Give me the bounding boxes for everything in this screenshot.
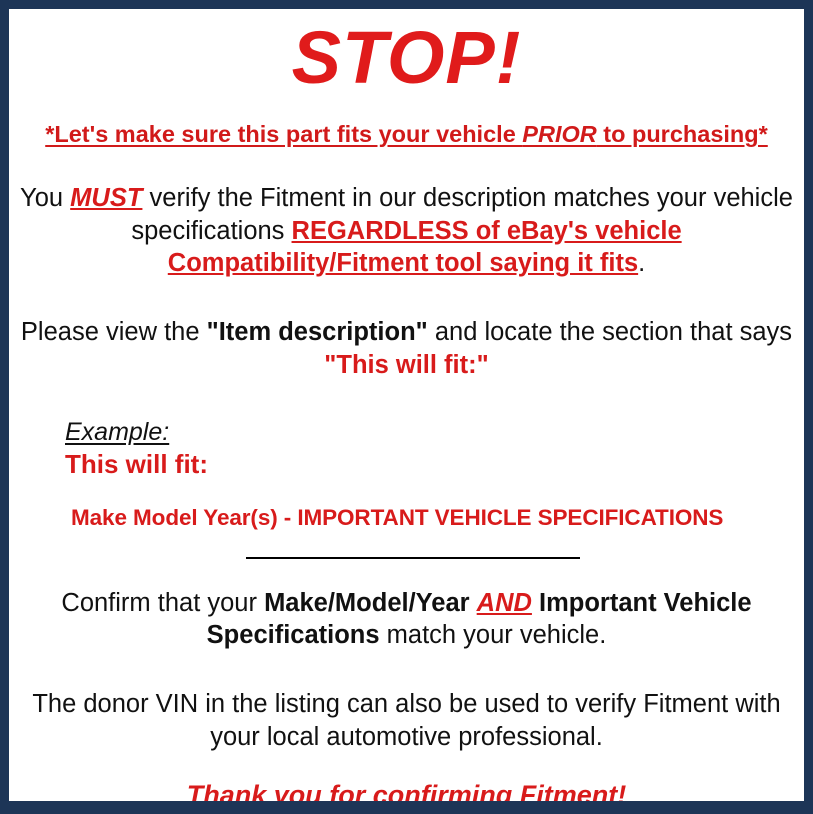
subtitle-banner: *Let's make sure this part fits your veh… [17, 121, 796, 148]
example-fit-heading: This will fit: [65, 449, 796, 480]
confirm-text-1: Confirm that your [61, 589, 264, 617]
example-block: Example: This will fit: Make Model Year(… [17, 419, 796, 531]
example-label: Example: [65, 419, 796, 447]
vin-paragraph: The donor VIN in the listing can also be… [17, 688, 796, 753]
thank-you-footer: Thank you for confirming Fitment! [17, 779, 796, 811]
example-spec-line: Make Model Year(s) - IMPORTANT VEHICLE S… [65, 504, 796, 531]
section-divider [246, 557, 580, 559]
please-view-paragraph: Please view the "Item description" and l… [17, 316, 796, 381]
must-text-3: . [638, 249, 645, 277]
notice-content: STOP! *Let's make sure this part fits yo… [9, 9, 804, 801]
subtitle-prefix: *Let's make sure this part fits your veh… [45, 121, 522, 147]
confirm-paragraph: Confirm that your Make/Model/Year AND Im… [17, 587, 796, 652]
subtitle-suffix: to purchasing* [597, 121, 768, 147]
this-will-fit-quote: "This will fit:" [324, 351, 488, 379]
must-emphasis: MUST [70, 184, 142, 212]
please-text-2: and locate the section that says [428, 318, 792, 346]
confirm-text-2: match your vehicle. [380, 621, 607, 649]
subtitle-emphasis-prior: PRIOR [522, 121, 596, 147]
make-model-year-emphasis: Make/Model/Year [264, 589, 470, 617]
must-text-1: You [20, 184, 70, 212]
stop-heading: STOP! [17, 21, 796, 95]
please-text-1: Please view the [21, 318, 207, 346]
must-verify-paragraph: You MUST verify the Fitment in our descr… [17, 182, 796, 280]
item-description-emphasis: "Item description" [207, 318, 428, 346]
divider-wrap [17, 557, 796, 559]
fitment-notice-card: STOP! *Let's make sure this part fits yo… [0, 0, 813, 814]
and-emphasis: AND [477, 589, 532, 617]
